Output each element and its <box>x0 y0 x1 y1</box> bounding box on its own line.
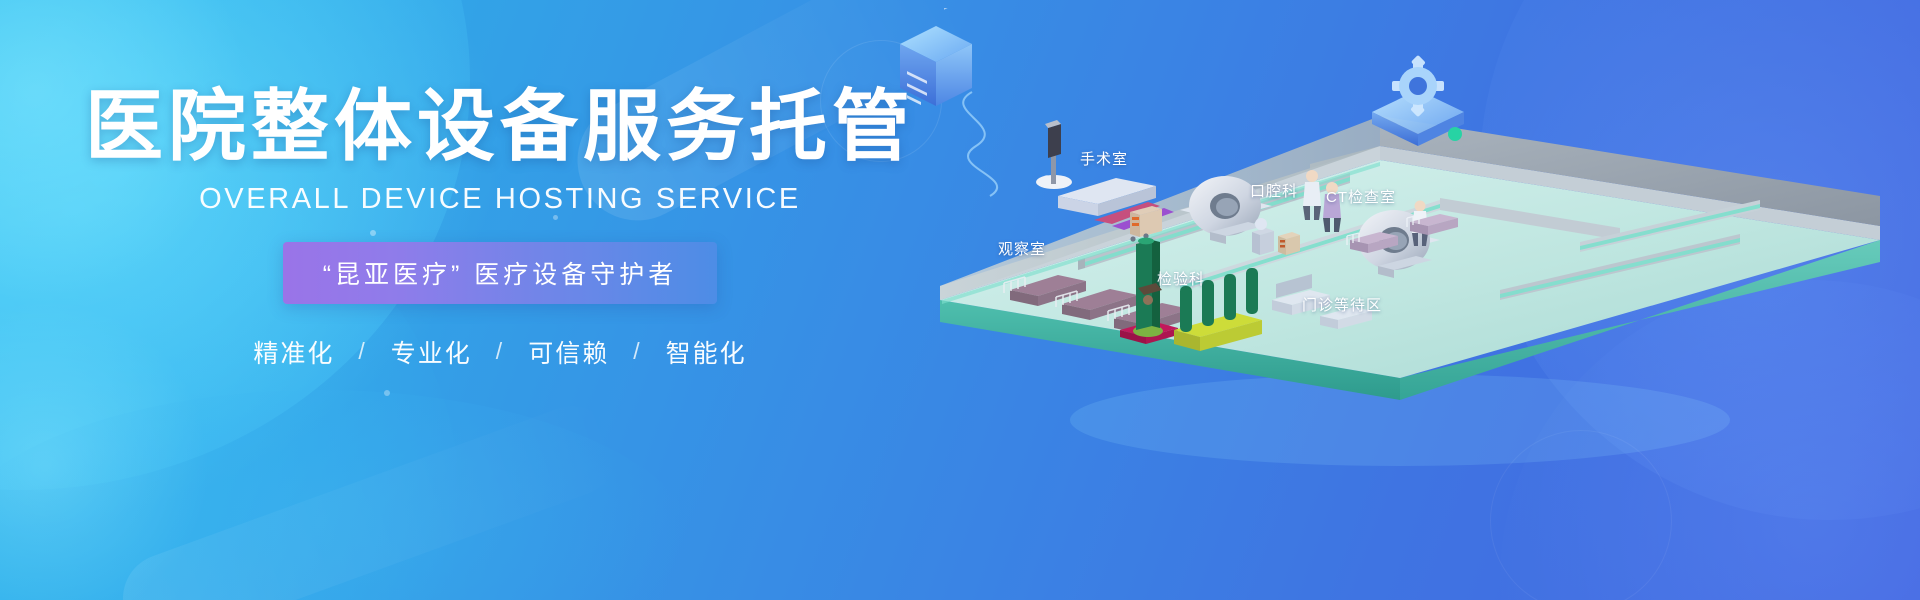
background-swoosh-4 <box>0 390 700 600</box>
room-label-waiting-area: 门诊等待区 <box>1302 294 1382 315</box>
hero-banner: 医院整体设备服务托管 OVERALL DEVICE HOSTING SERVIC… <box>0 0 1920 600</box>
banner-text-column: 医院整体设备服务托管 OVERALL DEVICE HOSTING SERVIC… <box>0 86 1000 370</box>
room-label-ct-room: CT检查室 <box>1326 186 1396 207</box>
keyword-separator: / <box>348 338 376 365</box>
subtitle-english: OVERALL DEVICE HOSTING SERVICE <box>0 183 1000 216</box>
page-title: 医院整体设备服务托管 <box>0 86 1000 169</box>
keyword-item-2: 专业化 <box>377 334 486 370</box>
room-label-laboratory: 检验科 <box>1157 268 1205 289</box>
tagline-badge-wrapper: “昆亚医疗” 医疗设备守护者 <box>0 242 1000 304</box>
keyword-separator: / <box>623 338 651 365</box>
sparkle-dot <box>384 390 390 396</box>
background-swoosh-3 <box>110 394 629 600</box>
keyword-item-1: 精准化 <box>239 334 348 370</box>
room-label-dental: 口腔科 <box>1250 180 1298 201</box>
room-label-observation: 观察室 <box>998 238 1046 259</box>
hospital-isometric-illustration: 手术室 口腔科 CT检查室 观察室 检验科 门诊等待区 <box>880 0 1920 600</box>
tagline-badge: “昆亚医疗” 医疗设备守护者 <box>283 242 718 304</box>
keyword-separator: / <box>486 338 514 365</box>
keyword-item-3: 可信赖 <box>514 334 623 370</box>
room-label-operating-room: 手术室 <box>1080 148 1128 169</box>
keyword-item-4: 智能化 <box>652 334 761 370</box>
gear-icon <box>1358 40 1478 160</box>
keyword-list: 精准化 / 专业化 / 可信赖 / 智能化 <box>0 334 1000 370</box>
